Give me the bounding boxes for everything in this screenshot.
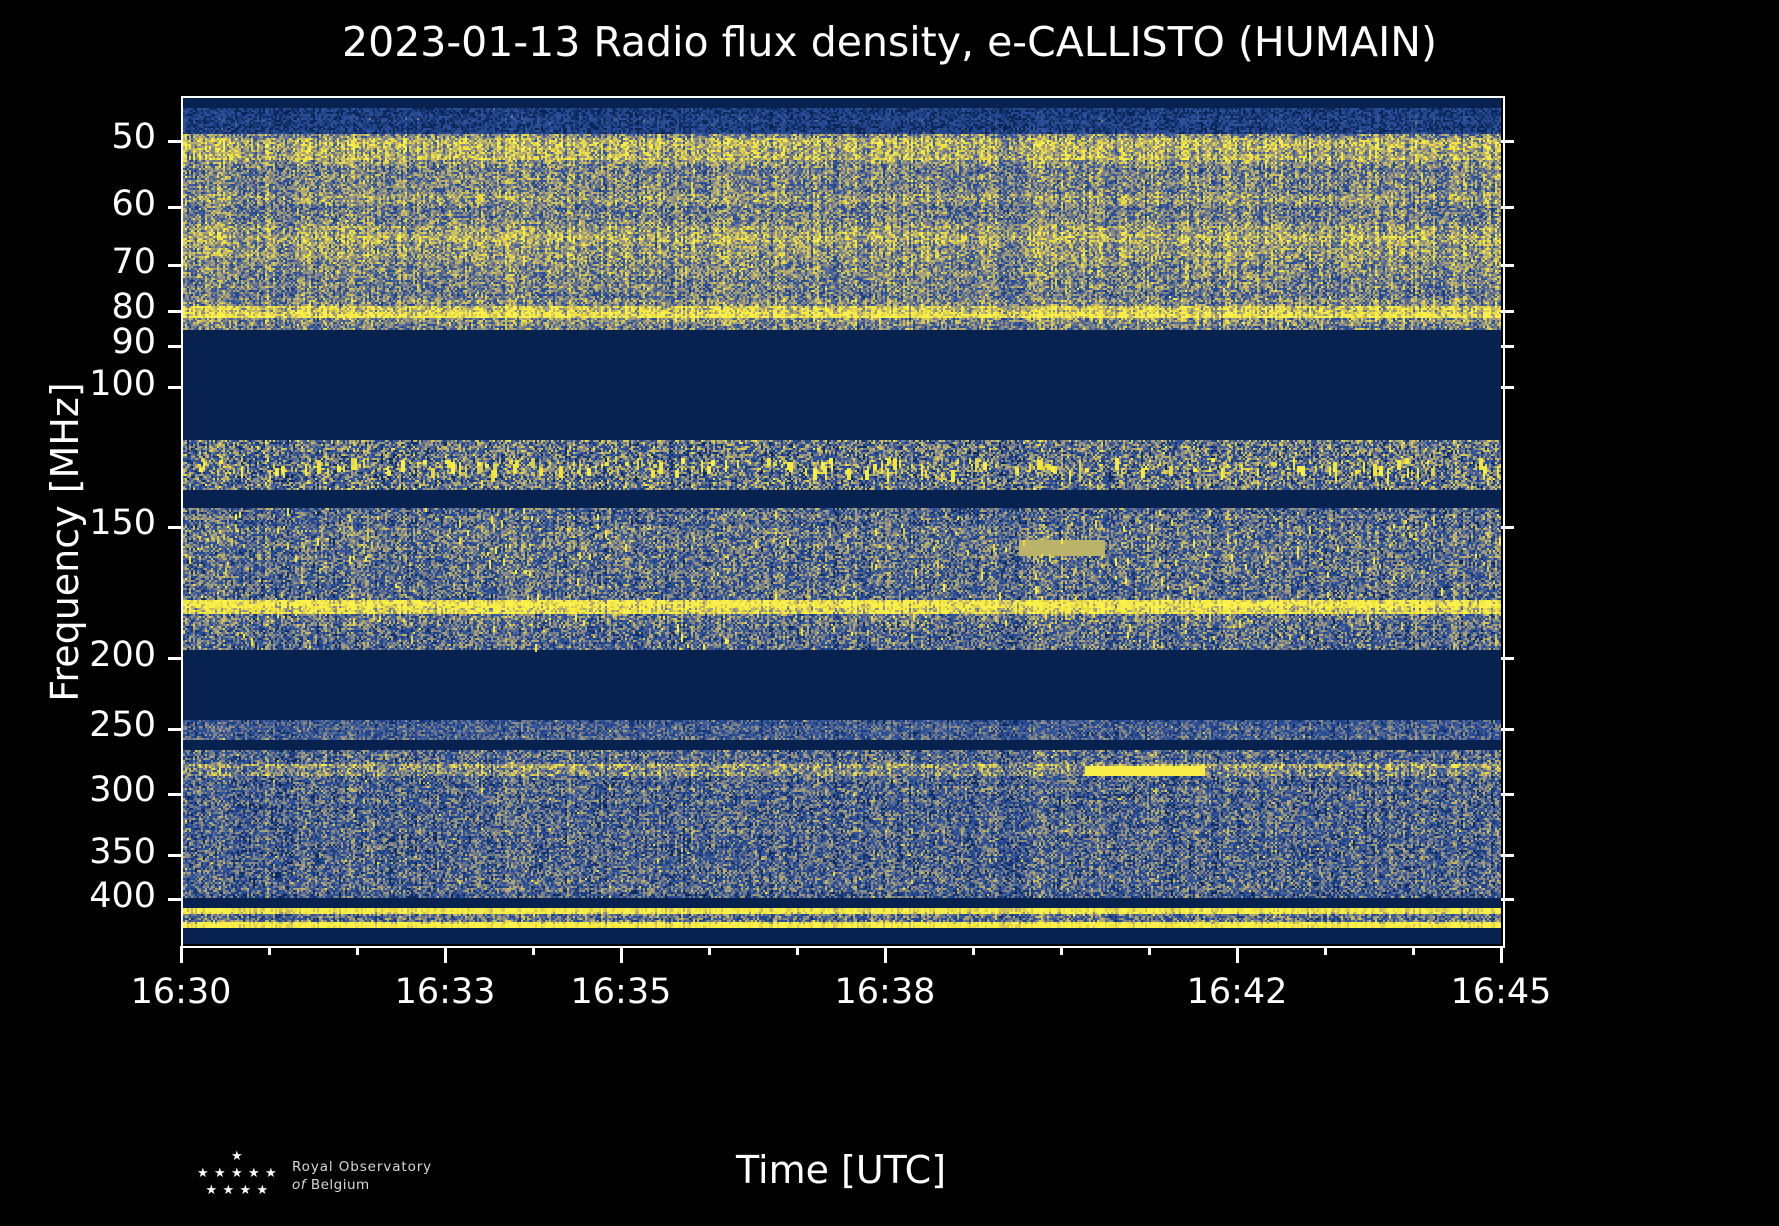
spectrogram-figure: 2023-01-13 Radio flux density, e-CALLIST…	[0, 0, 1779, 1226]
y-tick-label: 400	[1, 876, 156, 916]
y-tick-mark	[1501, 854, 1514, 857]
star-icon: ★	[240, 1184, 252, 1197]
x-tick-mark-minor	[268, 946, 271, 955]
x-tick-mark-major	[180, 946, 183, 963]
y-tick-mark	[1501, 526, 1514, 529]
y-tick-mark	[1501, 264, 1514, 267]
y-tick-mark	[1501, 386, 1514, 389]
y-tick-mark	[1501, 345, 1514, 348]
x-tick-mark-minor	[356, 946, 359, 955]
y-tick-mark	[168, 386, 181, 389]
y-tick-mark	[168, 793, 181, 796]
observatory-logo: ★★★★★★★★★★ Royal Observatory of Belgium	[190, 1145, 450, 1207]
x-tick-mark-minor	[708, 946, 711, 955]
y-tick-mark	[1501, 657, 1514, 660]
y-tick-mark	[168, 310, 181, 313]
y-axis-title: Frequency [MHz]	[43, 262, 87, 822]
spectrogram-plot-area[interactable]	[181, 96, 1501, 944]
page-title: 2023-01-13 Radio flux density, e-CALLIST…	[0, 18, 1779, 66]
x-tick-label: 16:38	[775, 972, 995, 1012]
logo-line-1: Royal Observatory	[292, 1158, 432, 1176]
x-tick-mark-major	[444, 946, 447, 963]
x-tick-mark-major	[1500, 946, 1503, 963]
logo-stars-icon: ★★★★★★★★★★	[190, 1148, 284, 1204]
star-icon: ★	[257, 1184, 269, 1197]
x-tick-mark-major	[1236, 946, 1239, 963]
x-tick-mark-minor	[972, 946, 975, 955]
y-tick-mark	[168, 206, 181, 209]
y-tick-mark	[168, 854, 181, 857]
x-tick-label: 16:35	[511, 972, 731, 1012]
y-tick-mark	[168, 728, 181, 731]
y-tick-label: 60	[1, 184, 156, 224]
x-tick-mark-minor	[1324, 946, 1327, 955]
logo-country-word: Belgium	[311, 1177, 370, 1193]
x-tick-label: 16:30	[71, 972, 291, 1012]
y-tick-mark	[168, 898, 181, 901]
y-tick-mark	[168, 657, 181, 660]
star-icon: ★	[206, 1184, 218, 1197]
star-icon: ★	[214, 1167, 226, 1180]
x-tick-mark-major	[884, 946, 887, 963]
x-tick-mark-minor	[1060, 946, 1063, 955]
star-icon: ★	[197, 1167, 209, 1180]
star-icon: ★	[223, 1184, 235, 1197]
x-tick-mark-minor	[796, 946, 799, 955]
y-tick-mark	[1501, 140, 1514, 143]
spectrogram-heatmap[interactable]	[181, 96, 1501, 944]
x-tick-label: 16:42	[1127, 972, 1347, 1012]
y-tick-mark	[1501, 206, 1514, 209]
star-icon: ★	[265, 1167, 277, 1180]
y-tick-mark	[1501, 898, 1514, 901]
x-tick-label: 16:45	[1391, 972, 1611, 1012]
y-tick-mark	[1501, 310, 1514, 313]
logo-line-2: of Belgium	[292, 1176, 432, 1194]
star-icon: ★	[231, 1150, 243, 1163]
y-tick-mark	[168, 264, 181, 267]
y-tick-mark	[168, 526, 181, 529]
y-tick-mark	[1501, 728, 1514, 731]
x-tick-mark-minor	[532, 946, 535, 955]
y-tick-label: 50	[1, 117, 156, 157]
y-tick-mark	[168, 345, 181, 348]
x-tick-mark-minor	[1148, 946, 1151, 955]
x-tick-mark-major	[620, 946, 623, 963]
y-tick-label: 350	[1, 832, 156, 872]
y-tick-mark	[1501, 793, 1514, 796]
star-icon: ★	[231, 1167, 243, 1180]
star-icon: ★	[248, 1167, 260, 1180]
logo-text: Royal Observatory of Belgium	[292, 1158, 432, 1194]
x-tick-mark-minor	[1412, 946, 1415, 955]
logo-of-word: of	[292, 1177, 306, 1193]
y-tick-mark	[168, 140, 181, 143]
